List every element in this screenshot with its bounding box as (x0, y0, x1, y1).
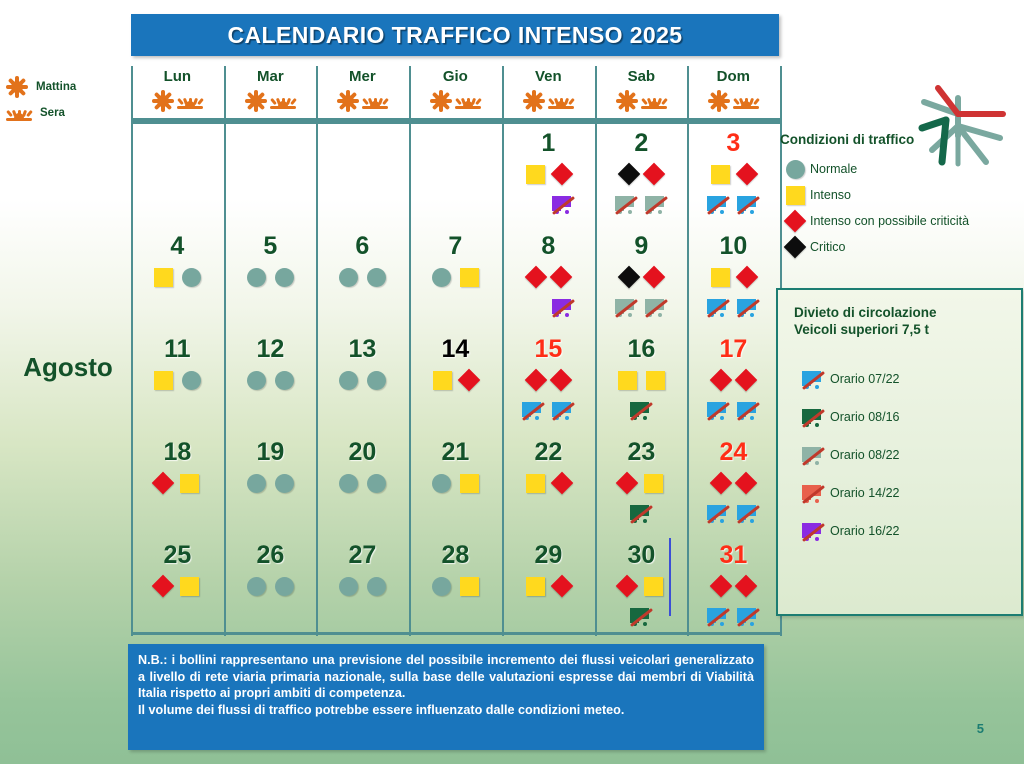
sun-full-icon (245, 90, 267, 112)
truck-ban-icon (630, 607, 652, 626)
day-bollini (597, 468, 686, 498)
calendar-day-empty (226, 124, 315, 227)
condition-symbol (780, 186, 810, 205)
day-number: 12 (226, 334, 315, 364)
note-paragraph-2: Il volume dei flussi di traffico potrebb… (138, 702, 754, 719)
sun-set-icon (177, 92, 203, 110)
condition-label: Intenso (810, 188, 851, 202)
calendar-day-11[interactable]: 11 (133, 330, 222, 433)
restriction-symbol (796, 370, 830, 389)
condition-symbol (780, 213, 810, 229)
bollino-normale (275, 268, 294, 287)
day-number: 7 (411, 231, 500, 261)
day-bollini (318, 571, 407, 601)
truck-ban-icon (707, 504, 729, 523)
day-bollini (689, 468, 778, 498)
day-number: 4 (133, 231, 222, 261)
day-truck-bans (597, 294, 686, 320)
day-truck-bans (597, 191, 686, 217)
day-number: 16 (597, 334, 686, 364)
calendar-day-16[interactable]: 16 (597, 330, 686, 433)
day-header-gio: Gio (411, 66, 500, 114)
day-number: 24 (689, 437, 778, 467)
bollino-normale (247, 371, 266, 390)
condition-item-1: Intenso (780, 182, 1020, 208)
condition-label: Intenso con possibile criticità (810, 214, 969, 228)
day-truck-bans (689, 397, 778, 423)
calendar-week-row: 18192021222324 (131, 433, 780, 536)
day-number: 28 (411, 540, 500, 570)
restriction-symbol (796, 522, 830, 541)
day-bollini (597, 571, 686, 601)
bollino-intenso (644, 474, 663, 493)
truck-ban-icon (645, 195, 667, 214)
bollino-criticita (784, 210, 807, 233)
day-number: 19 (226, 437, 315, 467)
bollino-normale (247, 474, 266, 493)
legend-label-mattina: Mattina (36, 81, 76, 93)
bollino-criticita (550, 266, 573, 289)
bollino-intenso (618, 371, 637, 390)
day-number: 22 (504, 437, 593, 467)
day-header-icons (504, 88, 593, 114)
truck-ban-icon (707, 401, 729, 420)
day-header-sab: Sab (597, 66, 686, 114)
condition-symbol (780, 239, 810, 255)
sun-set-icon (270, 92, 296, 110)
truck-ban-box: Divieto di circolazione Veicoli superior… (776, 288, 1023, 616)
restriction-symbol (796, 408, 830, 427)
truck-ban-icon (737, 401, 759, 420)
bollino-normale (247, 268, 266, 287)
condition-label: Critico (810, 240, 845, 254)
calendar-day-20[interactable]: 20 (318, 433, 407, 536)
bollino-criticita (616, 575, 639, 598)
bollino-critico (618, 163, 641, 186)
truck-ban-icon (737, 504, 759, 523)
day-header-icons (411, 88, 500, 114)
day-number: 8 (504, 231, 593, 261)
page-title-banner: CALENDARIO TRAFFICO INTENSO 2025 (131, 14, 779, 56)
bollino-normale (786, 160, 805, 179)
truck-ban-icon (552, 401, 574, 420)
day-number: 17 (689, 334, 778, 364)
day-bollini (504, 365, 593, 395)
day-header-label: Lun (133, 66, 222, 88)
traffic-conditions-list: NormaleIntensoIntenso con possibile crit… (780, 156, 1020, 260)
restriction-item-1: Orario 08/16 (778, 398, 1021, 436)
day-number: 14 (411, 334, 500, 364)
bollino-intenso (711, 165, 730, 184)
bollino-criticita (616, 472, 639, 495)
bollino-intenso (154, 268, 173, 287)
calendar-day-empty (133, 124, 222, 227)
calendar-day-15[interactable]: 15 (504, 330, 593, 433)
bollino-criticita (152, 472, 175, 495)
calendar-day-23[interactable]: 23 (597, 433, 686, 536)
bollino-criticita (551, 472, 574, 495)
day-number: 30 (597, 540, 686, 570)
sun-set-icon (362, 92, 388, 110)
bollino-normale (275, 371, 294, 390)
day-bollini (597, 159, 686, 189)
calendar-day-7[interactable]: 7 (411, 227, 500, 330)
day-header-icons (226, 88, 315, 114)
sun-full-icon (708, 90, 730, 112)
calendar-day-27[interactable]: 27 (318, 536, 407, 639)
bollino-normale (432, 474, 451, 493)
restriction-item-3: Orario 14/22 (778, 474, 1021, 512)
condition-label: Normale (810, 162, 857, 176)
bollino-intenso (711, 268, 730, 287)
truck-ban-icon (630, 401, 652, 420)
day-bollini (411, 262, 500, 292)
day-bollini (226, 365, 315, 395)
bollino-normale (367, 577, 386, 596)
legend-item-sera: Sera (6, 100, 126, 126)
note-paragraph: N.B.: i bollini rappresentano una previs… (138, 652, 754, 702)
calendar-day-5[interactable]: 5 (226, 227, 315, 330)
page-title: CALENDARIO TRAFFICO INTENSO 2025 (228, 22, 683, 49)
condition-symbol (780, 160, 810, 179)
day-number: 3 (689, 128, 778, 158)
bollino-normale (367, 474, 386, 493)
truck-ban-icon (737, 195, 759, 214)
restriction-symbol (796, 446, 830, 465)
day-number: 15 (504, 334, 593, 364)
day-number: 29 (504, 540, 593, 570)
day-bollini (689, 262, 778, 292)
calendar-day-26[interactable]: 26 (226, 536, 315, 639)
viabilita-italia-star-logo (908, 84, 1008, 170)
day-truck-bans (689, 191, 778, 217)
truck-ban-title: Divieto di circolazione Veicoli superior… (794, 304, 1021, 338)
calendar-day-17[interactable]: 17 (689, 330, 778, 433)
bollino-intenso (460, 577, 479, 596)
bollino-intenso (460, 268, 479, 287)
day-header-lun: Lun (133, 66, 222, 114)
bollino-normale (432, 268, 451, 287)
bollino-normale (247, 577, 266, 596)
condition-item-3: Critico (780, 234, 1020, 260)
day-header-label: Mar (226, 66, 315, 88)
day-truck-bans (689, 500, 778, 526)
day-number: 26 (226, 540, 315, 570)
calendar-day-empty (318, 124, 407, 227)
time-of-day-legend: Mattina Sera (6, 74, 126, 126)
day-header-label: Mer (318, 66, 407, 88)
day-header-label: Sab (597, 66, 686, 88)
bollino-normale (339, 268, 358, 287)
truck-ban-icon (802, 484, 824, 503)
day-bollini (504, 468, 593, 498)
day-header-mar: Mar (226, 66, 315, 114)
calendar-week-row: 123 (131, 124, 780, 227)
bollino-normale (275, 474, 294, 493)
calendar-day-30[interactable]: 30 (597, 536, 686, 639)
day-bollini (411, 468, 500, 498)
day-bollini (318, 262, 407, 292)
bollino-criticita (525, 369, 548, 392)
bollino-normale (432, 577, 451, 596)
day-number: 21 (411, 437, 500, 467)
bollino-criticita (710, 472, 733, 495)
day-number: 2 (597, 128, 686, 158)
day-bollini (689, 365, 778, 395)
truck-ban-icon (802, 370, 824, 389)
bollino-critico (618, 266, 641, 289)
day-header-mer: Mer (318, 66, 407, 114)
truck-ban-icon (645, 298, 667, 317)
bollino-intenso (786, 186, 805, 205)
bollino-criticita (710, 575, 733, 598)
day-truck-bans (689, 603, 778, 629)
truck-ban-icon (615, 195, 637, 214)
day-truck-bans (597, 397, 686, 423)
sun-full-icon (152, 90, 174, 112)
day-truck-bans (504, 397, 593, 423)
day-bollini (689, 159, 778, 189)
calendar-day-22[interactable]: 22 (504, 433, 593, 536)
day-number: 10 (689, 231, 778, 261)
bollino-criticita (643, 163, 666, 186)
bollino-criticita (152, 575, 175, 598)
sun-full-icon (337, 90, 359, 112)
calendar-week-row: 45678910 (131, 227, 780, 330)
bollino-normale (339, 577, 358, 596)
calendar-day-13[interactable]: 13 (318, 330, 407, 433)
truck-ban-icon (707, 298, 729, 317)
day-header-ven: Ven (504, 66, 593, 114)
calendar-day-8[interactable]: 8 (504, 227, 593, 330)
day-bollini (597, 262, 686, 292)
page-number: 5 (977, 721, 984, 736)
day-truck-bans (504, 191, 593, 217)
day-header-icons (597, 88, 686, 114)
calendar-day-19[interactable]: 19 (226, 433, 315, 536)
calendar-day-29[interactable]: 29 (504, 536, 593, 639)
calendar-day-21[interactable]: 21 (411, 433, 500, 536)
day-bollini (504, 159, 593, 189)
calendar-day-12[interactable]: 12 (226, 330, 315, 433)
restriction-item-0: Orario 07/22 (778, 360, 1021, 398)
truck-ban-icon (802, 408, 824, 427)
restriction-label: Orario 07/22 (830, 372, 899, 386)
day-truck-bans (597, 603, 686, 629)
sun-set-icon (733, 92, 759, 110)
day-bollini (226, 571, 315, 601)
calendar-week-row: 25262728293031 (131, 536, 780, 639)
day-number: 20 (318, 437, 407, 467)
day-number: 27 (318, 540, 407, 570)
bollino-criticita (735, 575, 758, 598)
calendar-week-row: 11121314151617 (131, 330, 780, 433)
day-number: 13 (318, 334, 407, 364)
bollino-criticita (458, 369, 481, 392)
day-number: 11 (133, 334, 222, 364)
day-truck-bans (504, 294, 593, 320)
bollino-criticita (550, 369, 573, 392)
day-truck-bans (689, 294, 778, 320)
bollino-normale (367, 268, 386, 287)
day-number: 25 (133, 540, 222, 570)
day-header-icons (318, 88, 407, 114)
sun-set-icon (6, 104, 32, 122)
day-header-dom: Dom (689, 66, 778, 114)
day-bollini (226, 262, 315, 292)
truck-ban-icon (802, 446, 824, 465)
sun-set-icon (548, 92, 574, 110)
note-banner: N.B.: i bollini rappresentano una previs… (128, 644, 764, 750)
restriction-label: Orario 14/22 (830, 486, 899, 500)
bollino-criticita (525, 266, 548, 289)
restriction-item-2: Orario 08/22 (778, 436, 1021, 474)
legend-label-sera: Sera (40, 107, 65, 119)
day-bollini (318, 468, 407, 498)
day-number: 23 (597, 437, 686, 467)
day-number: 5 (226, 231, 315, 261)
bollino-intenso (646, 371, 665, 390)
restriction-label: Orario 08/16 (830, 410, 899, 424)
day-bollini (411, 571, 500, 601)
calendar-day-14[interactable]: 14 (411, 330, 500, 433)
calendar-day-24[interactable]: 24 (689, 433, 778, 536)
bollino-intenso (433, 371, 452, 390)
day-bollini (504, 571, 593, 601)
day-number: 18 (133, 437, 222, 467)
bollino-normale (367, 371, 386, 390)
legend-item-mattina: Mattina (6, 74, 126, 100)
day-header-label: Dom (689, 66, 778, 88)
bollino-intenso (460, 474, 479, 493)
day-header-icons (689, 88, 778, 114)
truck-ban-icon (707, 195, 729, 214)
day-truck-bans (597, 500, 686, 526)
day-bollini (133, 571, 222, 601)
truck-ban-icon (707, 607, 729, 626)
blue-divider-mark (669, 538, 671, 616)
sun-full-icon (523, 90, 545, 112)
sun-set-icon (455, 92, 481, 110)
truck-ban-icon (615, 298, 637, 317)
calendar-day-31[interactable]: 31 (689, 536, 778, 639)
calendar-day-4[interactable]: 4 (133, 227, 222, 330)
bollino-criticita (551, 163, 574, 186)
sun-full-icon (616, 90, 638, 112)
day-bollini (133, 468, 222, 498)
bollino-normale (275, 577, 294, 596)
day-header-label: Ven (504, 66, 593, 88)
sun-full-icon (430, 90, 452, 112)
truck-ban-icon (802, 522, 824, 541)
calendar-day-18[interactable]: 18 (133, 433, 222, 536)
truck-ban-icon (737, 607, 759, 626)
day-bollini (504, 262, 593, 292)
calendar-day-3[interactable]: 3 (689, 124, 778, 227)
day-bollini (411, 365, 500, 395)
bollino-criticita (735, 369, 758, 392)
bollino-criticita (710, 369, 733, 392)
bollino-intenso (526, 165, 545, 184)
bollino-intenso (526, 577, 545, 596)
truck-ban-icon (630, 504, 652, 523)
calendar-day-2[interactable]: 2 (597, 124, 686, 227)
restriction-label: Orario 08/22 (830, 448, 899, 462)
day-number: 9 (597, 231, 686, 261)
bollino-normale (339, 474, 358, 493)
bollino-intenso (644, 577, 663, 596)
day-bollini (133, 365, 222, 395)
bollino-criticita (735, 472, 758, 495)
bollino-intenso (526, 474, 545, 493)
day-bollini (689, 571, 778, 601)
bollino-criticita (551, 575, 574, 598)
bollino-intenso (154, 371, 173, 390)
calendar-day-9[interactable]: 9 (597, 227, 686, 330)
day-number: 1 (504, 128, 593, 158)
sun-full-icon (6, 76, 28, 98)
condition-item-2: Intenso con possibile criticità (780, 208, 1020, 234)
day-header-icons (133, 88, 222, 114)
calendar-day-28[interactable]: 28 (411, 536, 500, 639)
truck-ban-icon (522, 401, 544, 420)
restriction-label: Orario 16/22 (830, 524, 899, 538)
calendar-day-empty (411, 124, 500, 227)
bollino-criticita (736, 266, 759, 289)
sun-set-icon (641, 92, 667, 110)
bollino-normale (182, 371, 201, 390)
bollino-critico (784, 236, 807, 259)
bollino-criticita (736, 163, 759, 186)
calendar-day-6[interactable]: 6 (318, 227, 407, 330)
bollino-normale (182, 268, 201, 287)
truck-ban-icon (737, 298, 759, 317)
month-label: Agosto (8, 352, 128, 383)
calendar-grid: LunMarMerGioVenSabDom 123456789101112131… (131, 66, 780, 636)
day-bollini (597, 365, 686, 395)
day-bollini (133, 262, 222, 292)
truck-ban-list: Orario 07/22Orario 08/16Orario 08/22Orar… (778, 360, 1021, 550)
bollino-normale (339, 371, 358, 390)
truck-ban-icon (552, 195, 574, 214)
day-number: 31 (689, 540, 778, 570)
bollino-intenso (180, 577, 199, 596)
bollino-intenso (180, 474, 199, 493)
restriction-item-4: Orario 16/22 (778, 512, 1021, 550)
day-bollini (318, 365, 407, 395)
calendar-day-25[interactable]: 25 (133, 536, 222, 639)
restriction-symbol (796, 484, 830, 503)
day-number: 6 (318, 231, 407, 261)
calendar-day-10[interactable]: 10 (689, 227, 778, 330)
bollino-criticita (643, 266, 666, 289)
day-bollini (226, 468, 315, 498)
truck-ban-icon (552, 298, 574, 317)
day-header-label: Gio (411, 66, 500, 88)
calendar-day-1[interactable]: 1 (504, 124, 593, 227)
